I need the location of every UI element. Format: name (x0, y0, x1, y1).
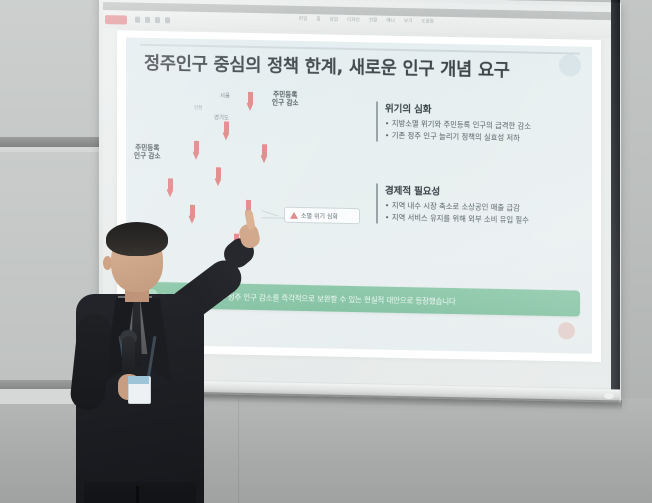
down-arrow-icon (222, 121, 231, 140)
menu-item-animation[interactable]: 애니 (386, 18, 394, 24)
name-badge-header (128, 376, 149, 384)
present-icon[interactable] (165, 17, 170, 23)
section-heading-economic: 경제적 필요성 (385, 183, 582, 201)
presenter (56, 218, 286, 503)
extinction-risk-callout: 소멸 위기 심화 (284, 207, 360, 225)
down-arrow-icon (260, 144, 269, 163)
menu-item-home[interactable]: 홈 (316, 16, 320, 22)
menu-item-view[interactable]: 보기 (404, 18, 412, 24)
section-heading-crisis: 위기의 심화 (385, 101, 582, 119)
menu-item-file[interactable]: 파일 (299, 16, 307, 22)
screen-right-edge (611, 0, 620, 398)
callout-text: 소멸 위기 심화 (301, 210, 338, 220)
presenter-hair (106, 222, 168, 256)
warning-triangle-icon (290, 211, 298, 218)
bullet-list-economic: 지역 내수 시장 축소로 소상공인 매출 급감 지역 서비스 유지를 위해 외부… (385, 200, 582, 227)
decoration-dot (558, 322, 575, 339)
down-arrow-icon (192, 141, 201, 160)
undo-icon[interactable] (145, 17, 150, 23)
down-arrow-icon (214, 167, 223, 186)
save-icon[interactable] (135, 17, 140, 23)
down-arrow-icon (166, 178, 175, 197)
redo-icon[interactable] (155, 17, 160, 23)
photo-scene: 파일 홈 삽입 디자인 전환 애니 보기 도움말 정주인구 중심의 정책 한계,… (0, 0, 652, 503)
label-line-2: 인구 감소 (272, 99, 299, 108)
menu-item-insert[interactable]: 삽입 (330, 17, 338, 23)
presenter-legs (84, 482, 196, 503)
whiteboard-upper (0, 0, 100, 142)
bullet-list-crisis: 지방소멸 위기와 주민등록 인구의 급격한 감소 기존 정주 인구 늘리기 정책… (385, 118, 582, 145)
roller-end-cap (604, 393, 614, 399)
section-crisis: 위기의 심화 지방소멸 위기와 주민등록 인구의 급격한 감소 기존 정주 인구… (376, 100, 582, 144)
app-logo-icon (105, 15, 127, 24)
region-label-gyeonggi: 경기도 (214, 113, 229, 121)
presenter-leg-gap (136, 486, 139, 503)
section-economic: 경제적 필요성 지역 내수 시장 축소로 소상공인 매출 급감 지역 서비스 유… (376, 182, 582, 226)
down-arrow-icon (246, 92, 255, 111)
menu-item-transition[interactable]: 전환 (369, 17, 377, 23)
diagram-label-registered-population-1: 주민등록 인구 감소 (272, 90, 299, 107)
quick-access-toolbar[interactable] (135, 17, 170, 24)
menu-item-help[interactable]: 도움말 (421, 18, 434, 24)
region-label-seoul: 서울 (220, 91, 230, 99)
diagram-label-registered-population-2: 주민등록 인구 감소 (134, 144, 161, 161)
label-line-2: 인구 감소 (134, 152, 161, 161)
slide-title: 정주인구 중심의 정책 한계, 새로운 인구 개념 요구 (144, 50, 584, 84)
menu-item-design[interactable]: 디자인 (347, 17, 360, 23)
region-label-incheon: 인천 (194, 105, 202, 111)
whiteboard-tray-upper (0, 137, 102, 147)
